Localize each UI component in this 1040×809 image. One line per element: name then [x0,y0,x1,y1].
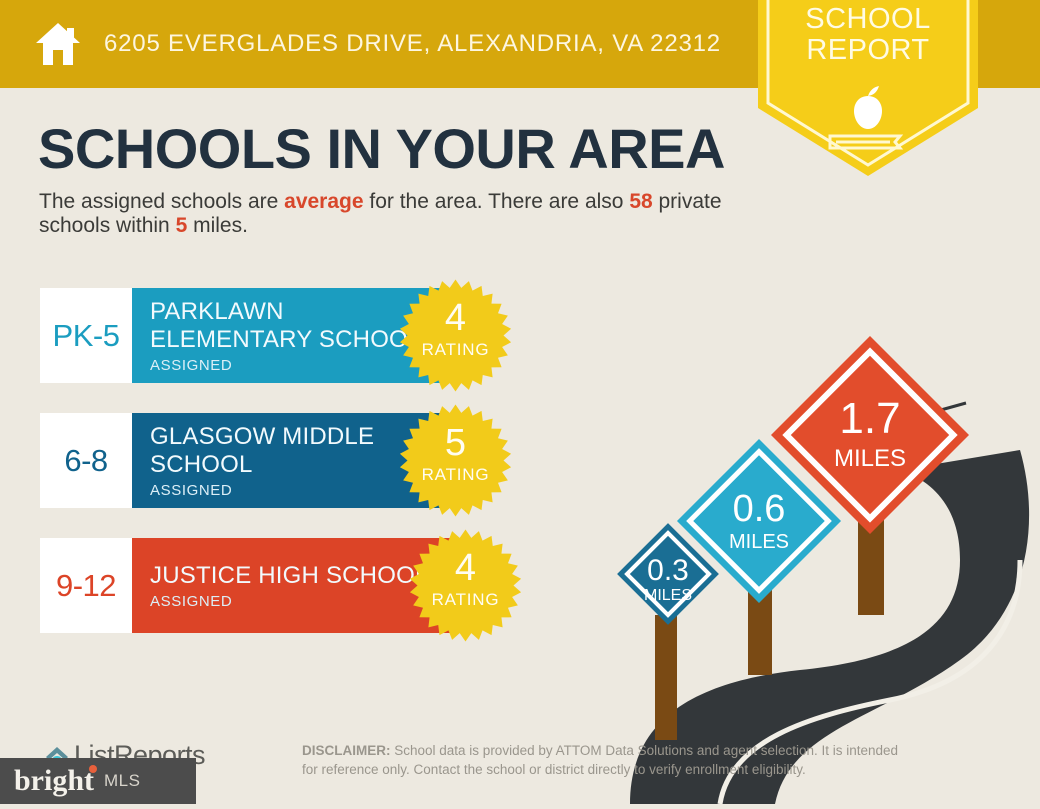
rating-value: 4 [408,548,523,588]
school-row[interactable]: 9-12JUSTICE HIGH SCHOOLASSIGNED4RATING [40,538,575,633]
badge-line-1: SCHOOL [752,4,984,35]
school-report-badge: SCHOOL REPORT [752,0,984,178]
grade-label: 9-12 [56,568,116,604]
subtitle-part-4: miles. [187,214,248,237]
subtitle-highlight-count: 58 [629,190,652,213]
page-title: SCHOOLS IN YOUR AREA [38,118,725,180]
distance-sign-3: 1.7 MILES [770,335,970,535]
subtitle-part-1: The assigned schools are [39,190,284,213]
disclaimer-label: DISCLAIMER: [302,743,391,758]
rating-starburst: 4RATING [408,528,523,643]
bright-brand: bright [14,764,94,798]
rating-value: 5 [398,423,513,463]
rating-caption: RATING [398,340,513,360]
sign-post-1 [655,615,677,740]
school-name-line-1: JUSTICE HIGH SCHOOL [150,562,429,589]
grade-label: 6-8 [64,443,107,479]
sign-value-3: 1.7 [770,397,970,441]
badge-line-2: REPORT [752,35,984,66]
subtitle-part-2: for the area. There are also [364,190,630,213]
subtitle-highlight-average: average [284,190,363,213]
grade-badge: 9-12 [40,538,132,633]
subtitle-highlight-radius: 5 [176,214,188,237]
home-icon [34,21,82,67]
disclaimer-text: DISCLAIMER: School data is provided by A… [302,741,906,779]
distance-road-illustration: 0.3 MILES 0.6 MILES 1.7 MILES [600,330,1040,804]
disclaimer-body: School data is provided by ATTOM Data So… [302,743,898,777]
property-address: 6205 EVERGLADES DRIVE, ALEXANDRIA, VA 22… [104,30,721,58]
bright-mls-label: MLS [104,771,140,791]
school-row[interactable]: 6-8GLASGOW MIDDLESCHOOLASSIGNED5RATING [40,413,575,508]
rating-caption: RATING [398,465,513,485]
rating-value: 4 [398,298,513,338]
school-name-line-2: SCHOOL [150,451,253,478]
school-row[interactable]: PK-5PARKLAWNELEMENTARY SCHOOLASSIGNED4RA… [40,288,575,383]
bright-mls-watermark: bright MLS [0,758,196,804]
rating-caption: RATING [408,590,523,610]
grade-label: PK-5 [53,318,120,354]
bright-accent-dot [89,765,97,773]
page-subtitle: The assigned schools are average for the… [39,190,739,238]
school-list: PK-5PARKLAWNELEMENTARY SCHOOLASSIGNED4RA… [40,288,575,663]
school-report-infographic: 6205 EVERGLADES DRIVE, ALEXANDRIA, VA 22… [0,0,1040,804]
grade-badge: 6-8 [40,413,132,508]
badge-label: SCHOOL REPORT [752,4,984,66]
rating-starburst: 4RATING [398,278,513,393]
school-name-line-1: GLASGOW MIDDLE [150,423,374,450]
rating-starburst: 5RATING [398,403,513,518]
school-name-line-2: ELEMENTARY SCHOOL [150,326,421,353]
sign-unit-3: MILES [770,447,970,471]
bright-brand-label: bright [14,764,94,797]
grade-badge: PK-5 [40,288,132,383]
school-name-line-1: PARKLAWN [150,298,284,325]
header-content: 6205 EVERGLADES DRIVE, ALEXANDRIA, VA 22… [34,0,721,88]
